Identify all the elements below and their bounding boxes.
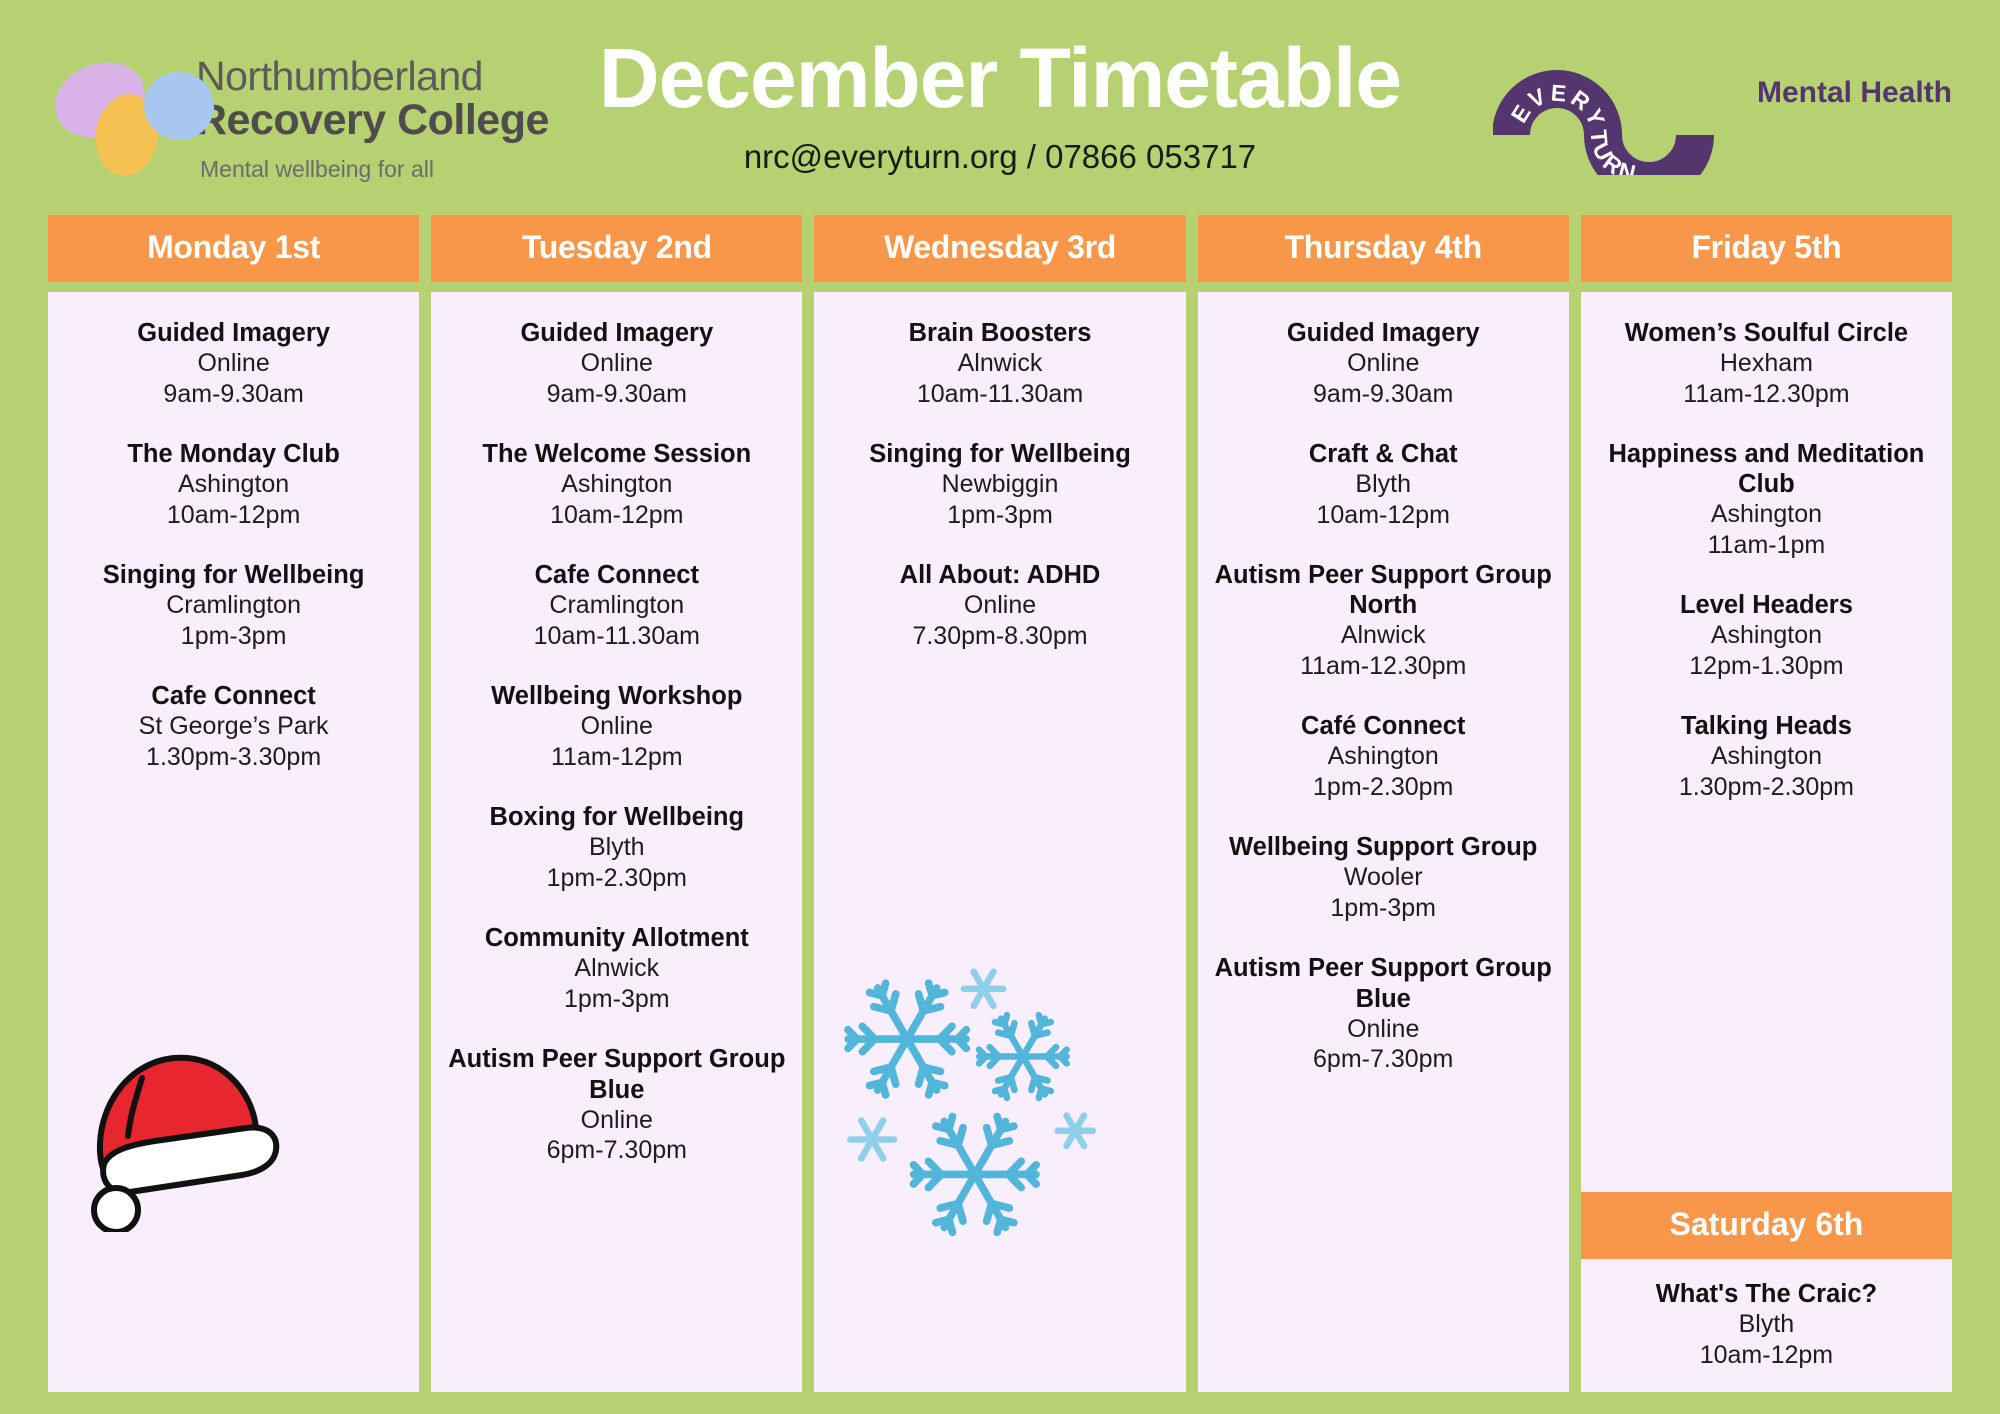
event-location: Online (56, 348, 411, 379)
event-time: 10am-12pm (1589, 1340, 1944, 1371)
event-title: Women’s Soulful Circle (1589, 318, 1944, 348)
event-item[interactable]: Wellbeing Support GroupWooler1pm-3pm (1206, 832, 1561, 923)
event-time: 12pm-1.30pm (1589, 651, 1944, 682)
event-time: 9am-9.30am (56, 379, 411, 410)
event-item[interactable]: Singing for WellbeingCramlington1pm-3pm (56, 560, 411, 651)
event-location: Blyth (439, 832, 794, 863)
day-body-friday-5th: Women’s Soulful CircleHexham11am-12.30pm… (1581, 292, 1952, 1392)
event-title: Wellbeing Support Group (1206, 832, 1561, 862)
event-item[interactable]: What's The Craic?Blyth10am-12pm (1589, 1279, 1944, 1370)
event-title: Autism Peer Support Group Blue (1206, 953, 1561, 1013)
event-item[interactable]: Wellbeing WorkshopOnline11am-12pm (439, 681, 794, 772)
college-line-1: Northumberland (196, 56, 549, 97)
event-location: Online (439, 1105, 794, 1136)
event-time: 9am-9.30am (1206, 379, 1561, 410)
day-column-friday-5th: Friday 5thWomen’s Soulful CircleHexham11… (1581, 215, 1952, 1392)
event-title: The Welcome Session (439, 439, 794, 469)
event-title: Talking Heads (1589, 711, 1944, 741)
event-time: 6pm-7.30pm (1206, 1044, 1561, 1075)
event-time: 1pm-2.30pm (439, 863, 794, 894)
event-title: Autism Peer Support Group North (1206, 560, 1561, 620)
college-tagline: Mental wellbeing for all (200, 158, 549, 181)
day-header-friday-5th[interactable]: Friday 5th (1581, 215, 1952, 282)
day-body-monday-1st: Guided ImageryOnline9am-9.30amThe Monday… (48, 292, 419, 1392)
event-time: 1pm-2.30pm (1206, 772, 1561, 803)
event-location: Hexham (1589, 348, 1944, 379)
event-time: 10am-11.30am (822, 379, 1177, 410)
day-header-monday-1st[interactable]: Monday 1st (48, 215, 419, 282)
event-title: Cafe Connect (439, 560, 794, 590)
everyturn-swirl-icon: EVERYTURN (1493, 40, 1743, 175)
event-title: Singing for Wellbeing (822, 439, 1177, 469)
event-location: Ashington (439, 469, 794, 500)
everyturn-logo: EVERYTURN Mental Health (1432, 28, 1952, 175)
event-title: Singing for Wellbeing (56, 560, 411, 590)
week-grid: Monday 1stGuided ImageryOnline9am-9.30am… (0, 215, 2000, 1414)
event-title: All About: ADHD (822, 560, 1177, 590)
event-location: Blyth (1589, 1309, 1944, 1340)
event-title: Guided Imagery (1206, 318, 1561, 348)
event-title: Autism Peer Support Group Blue (439, 1044, 794, 1104)
page-title: December Timetable (568, 34, 1432, 122)
event-item[interactable]: Guided ImageryOnline9am-9.30am (1206, 318, 1561, 409)
day-body-tuesday-2nd: Guided ImageryOnline9am-9.30amThe Welcom… (431, 292, 802, 1392)
day-column-monday-1st: Monday 1stGuided ImageryOnline9am-9.30am… (48, 215, 419, 1392)
event-item[interactable]: Boxing for WellbeingBlyth1pm-2.30pm (439, 802, 794, 893)
day-column-thursday-4th: Thursday 4thGuided ImageryOnline9am-9.30… (1198, 215, 1569, 1392)
event-title: Community Allotment (439, 923, 794, 953)
event-location: Alnwick (439, 953, 794, 984)
event-title: Cafe Connect (56, 681, 411, 711)
day-column-tuesday-2nd: Tuesday 2ndGuided ImageryOnline9am-9.30a… (431, 215, 802, 1392)
event-title: Wellbeing Workshop (439, 681, 794, 711)
event-title: Guided Imagery (439, 318, 794, 348)
event-item[interactable]: Cafe ConnectCramlington10am-11.30am (439, 560, 794, 651)
event-location: Ashington (1589, 620, 1944, 651)
day-header-tuesday-2nd[interactable]: Tuesday 2nd (431, 215, 802, 282)
event-item[interactable]: Community AllotmentAlnwick1pm-3pm (439, 923, 794, 1014)
college-line-2: Recovery College (196, 99, 549, 142)
event-time: 6pm-7.30pm (439, 1135, 794, 1166)
event-time: 11am-12.30pm (1206, 651, 1561, 682)
recovery-college-wordmark: Northumberland Recovery College Mental w… (196, 50, 549, 181)
timetable-poster: Northumberland Recovery College Mental w… (0, 0, 2000, 1414)
event-item[interactable]: Guided ImageryOnline9am-9.30am (439, 318, 794, 409)
event-time: 11am-12pm (439, 742, 794, 773)
event-item[interactable]: Autism Peer Support Group BlueOnline6pm-… (1206, 953, 1561, 1074)
event-location: Ashington (1589, 499, 1944, 530)
event-item[interactable]: Craft & ChatBlyth10am-12pm (1206, 439, 1561, 530)
event-location: Ashington (1589, 741, 1944, 772)
day-column-wednesday-3rd: Wednesday 3rdBrain BoostersAlnwick10am-1… (814, 215, 1185, 1392)
event-item[interactable]: Women’s Soulful CircleHexham11am-12.30pm (1589, 318, 1944, 409)
event-list: Women’s Soulful CircleHexham11am-12.30pm… (1589, 318, 1944, 802)
day-header-saturday-6th[interactable]: Saturday 6th (1581, 1192, 1952, 1259)
snowflake-icon (822, 967, 1193, 1227)
event-title: Happiness and Meditation Club (1589, 439, 1944, 499)
event-title: The Monday Club (56, 439, 411, 469)
event-title: Brain Boosters (822, 318, 1177, 348)
event-list: Guided ImageryOnline9am-9.30amCraft & Ch… (1206, 318, 1561, 1075)
event-time: 1pm-3pm (56, 621, 411, 652)
everyturn-subtitle: Mental Health (1757, 76, 1952, 140)
event-item[interactable]: Level HeadersAshington12pm-1.30pm (1589, 590, 1944, 681)
event-item[interactable]: The Monday ClubAshington10am-12pm (56, 439, 411, 530)
event-item[interactable]: Café ConnectAshington1pm-2.30pm (1206, 711, 1561, 802)
event-list: Brain BoostersAlnwick10am-11.30amSinging… (822, 318, 1177, 651)
event-time: 11am-12.30pm (1589, 379, 1944, 410)
event-location: St George’s Park (56, 711, 411, 742)
event-title: Craft & Chat (1206, 439, 1561, 469)
day-body-saturday-6th: What's The Craic?Blyth10am-12pm (1581, 1259, 1952, 1392)
event-time: 1.30pm-2.30pm (1589, 772, 1944, 803)
event-location: Online (439, 348, 794, 379)
event-item[interactable]: Guided ImageryOnline9am-9.30am (56, 318, 411, 409)
event-item[interactable]: Happiness and Meditation ClubAshington11… (1589, 439, 1944, 560)
event-time: 1pm-3pm (822, 500, 1177, 531)
event-item[interactable]: Autism Peer Support Group BlueOnline6pm-… (439, 1044, 794, 1165)
contact-line: nrc@everyturn.org / 07866 053717 (568, 138, 1432, 176)
event-item[interactable]: Talking HeadsAshington1.30pm-2.30pm (1589, 711, 1944, 802)
event-location: Ashington (56, 469, 411, 500)
day-body-thursday-4th: Guided ImageryOnline9am-9.30amCraft & Ch… (1198, 292, 1569, 1392)
event-time: 10am-11.30am (439, 621, 794, 652)
event-location: Newbiggin (822, 469, 1177, 500)
event-location: Online (439, 711, 794, 742)
poster-header: Northumberland Recovery College Mental w… (0, 0, 2000, 215)
event-location: Blyth (1206, 469, 1561, 500)
event-time: 10am-12pm (439, 500, 794, 531)
day-header-thursday-4th[interactable]: Thursday 4th (1198, 215, 1569, 282)
petals-icon (48, 50, 178, 160)
event-location: Online (1206, 1014, 1561, 1045)
event-location: Cramlington (439, 590, 794, 621)
event-item[interactable]: Singing for WellbeingNewbiggin1pm-3pm (822, 439, 1177, 530)
event-time: 1pm-3pm (439, 984, 794, 1015)
event-item[interactable]: All About: ADHDOnline7.30pm-8.30pm (822, 560, 1177, 651)
day-header-wednesday-3rd[interactable]: Wednesday 3rd (814, 215, 1185, 282)
event-title: Café Connect (1206, 711, 1561, 741)
event-time: 1.30pm-3.30pm (56, 742, 411, 773)
event-location: Ashington (1206, 741, 1561, 772)
event-time: 9am-9.30am (439, 379, 794, 410)
santa-hat-icon (70, 1032, 300, 1232)
event-location: Cramlington (56, 590, 411, 621)
day-body-wednesday-3rd: Brain BoostersAlnwick10am-11.30amSinging… (814, 292, 1185, 1392)
event-time: 11am-1pm (1589, 530, 1944, 561)
event-list: Guided ImageryOnline9am-9.30amThe Monday… (56, 318, 411, 772)
saturday-block: Saturday 6thWhat's The Craic?Blyth10am-1… (1581, 1192, 1952, 1392)
header-center: December Timetable nrc@everyturn.org / 0… (568, 28, 1432, 176)
event-title: Level Headers (1589, 590, 1944, 620)
event-location: Wooler (1206, 862, 1561, 893)
event-title: What's The Craic? (1589, 1279, 1944, 1309)
event-item[interactable]: The Welcome SessionAshington10am-12pm (439, 439, 794, 530)
event-location: Alnwick (822, 348, 1177, 379)
event-location: Online (1206, 348, 1561, 379)
event-location: Alnwick (1206, 620, 1561, 651)
event-item[interactable]: Autism Peer Support Group NorthAlnwick11… (1206, 560, 1561, 681)
recovery-college-logo: Northumberland Recovery College Mental w… (48, 28, 568, 181)
event-item[interactable]: Cafe ConnectSt George’s Park1.30pm-3.30p… (56, 681, 411, 772)
event-time: 10am-12pm (1206, 500, 1561, 531)
event-title: Boxing for Wellbeing (439, 802, 794, 832)
event-time: 7.30pm-8.30pm (822, 621, 1177, 652)
event-list: Guided ImageryOnline9am-9.30amThe Welcom… (439, 318, 794, 1166)
event-time: 10am-12pm (56, 500, 411, 531)
event-location: Online (822, 590, 1177, 621)
event-item[interactable]: Brain BoostersAlnwick10am-11.30am (822, 318, 1177, 409)
event-title: Guided Imagery (56, 318, 411, 348)
event-time: 1pm-3pm (1206, 893, 1561, 924)
